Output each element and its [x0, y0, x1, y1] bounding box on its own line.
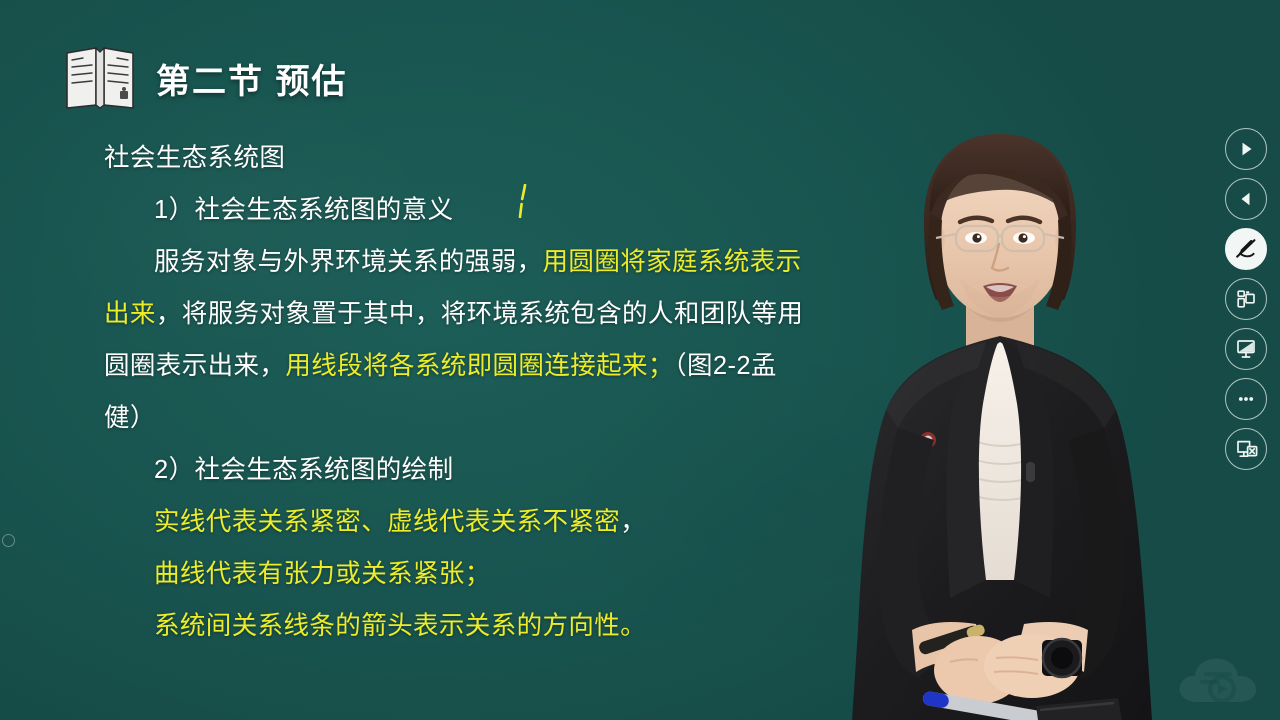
- text-line-1: 社会生态系统图: [104, 132, 904, 184]
- presentation-stage: 第二节 预估 社会生态系统图 1）社会生态系统图的意义 服务对象与外界环境关系的…: [0, 0, 1280, 720]
- text-line-8: 实线代表关系紧密、虚线代表关系不紧密，: [104, 496, 904, 548]
- slide-body: 社会生态系统图 1）社会生态系统图的意义 服务对象与外界环境关系的强弱，用圆圈将…: [104, 132, 904, 652]
- line-segment: （图2-2孟: [674, 352, 777, 380]
- text-line-2: 1）社会生态系统图的意义: [104, 184, 904, 236]
- more-button[interactable]: [1225, 378, 1267, 420]
- layout-windows-icon: [1234, 287, 1258, 311]
- stop-screen-share-icon: [1234, 437, 1258, 461]
- line-segment-highlight: 用线段将各系统即圆圈连接起来；: [285, 352, 674, 380]
- line-segment-highlight: 用圆圈将家庭系统表示: [543, 248, 802, 276]
- text-line-7: 2）社会生态系统图的绘制: [104, 444, 904, 496]
- pen-disabled-icon: [1233, 236, 1259, 262]
- line-segment: 健）: [104, 404, 156, 432]
- line-segment: ，: [620, 508, 646, 536]
- text-line-10: 系统间关系线条的箭头表示关系的方向性。: [104, 600, 904, 652]
- annotation-off-button[interactable]: [1225, 228, 1267, 270]
- line-segment-highlight: 系统间关系线条的箭头表示关系的方向性。: [154, 612, 646, 640]
- whiteboard-button[interactable]: [1225, 328, 1267, 370]
- open-book-icon: [62, 44, 138, 112]
- text-line-6: 健）: [104, 392, 904, 444]
- previous-triangle-icon: [1237, 190, 1255, 208]
- line-segment-highlight: 曲线代表有张力或关系紧张；: [154, 560, 491, 588]
- text-line-5: 圆圈表示出来，用线段将各系统即圆圈连接起来；（图2-2孟: [104, 340, 904, 392]
- page-title: 第二节 预估: [156, 54, 347, 103]
- previous-button[interactable]: [1225, 178, 1267, 220]
- slide-header: 第二节 预估: [62, 44, 347, 112]
- line-segment: 服务对象与外界环境关系的强弱，: [154, 248, 543, 276]
- layout-button[interactable]: [1225, 278, 1267, 320]
- play-icon: [1236, 139, 1256, 159]
- text-line-3: 服务对象与外界环境关系的强弱，用圆圈将家庭系统表示: [104, 236, 904, 288]
- text-line-4: 出来，将服务对象置于其中，将环境系统包含的人和团队等用: [104, 288, 904, 340]
- line-segment-highlight: 出来: [104, 300, 156, 328]
- text-line-9: 曲线代表有张力或关系紧张；: [104, 548, 904, 600]
- line-segment: ，将服务对象置于其中，将环境系统包含的人和团队等用: [156, 300, 804, 328]
- play-button[interactable]: [1225, 128, 1267, 170]
- line-segment: 圆圈表示出来，: [104, 352, 285, 380]
- line-segment-highlight: 实线代表关系紧密、虚线代表关系不紧密: [154, 508, 620, 536]
- collapse-handle[interactable]: [2, 534, 15, 547]
- stop-share-button[interactable]: [1225, 428, 1267, 470]
- ellipsis-icon: [1235, 388, 1257, 410]
- line-segment: 社会生态系统图: [104, 144, 285, 172]
- line-segment: 1）社会生态系统图的意义: [154, 196, 453, 224]
- cloud-logo-watermark: [1170, 648, 1266, 712]
- meeting-tool-rail[interactable]: [1220, 128, 1272, 470]
- line-segment: 2）社会生态系统图的绘制: [154, 456, 453, 484]
- whiteboard-icon: [1234, 337, 1258, 361]
